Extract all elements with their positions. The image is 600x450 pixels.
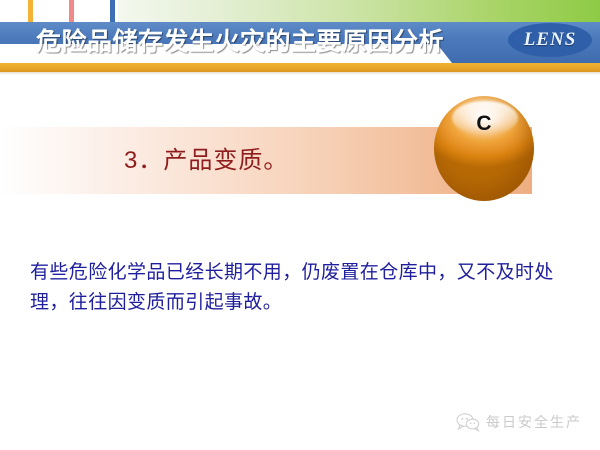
accent-tick-pink <box>69 0 74 22</box>
accent-tick-orange <box>28 0 33 22</box>
watermark-label: 每日安全生产 <box>486 412 582 432</box>
heading-text: 3．产品变质。 <box>124 127 288 194</box>
body-paragraph: 有些危险化学品已经长期不用，仍废置在仓库中，又不及时处理，往往因变质而引起事故。 <box>30 258 575 318</box>
watermark: 每日安全生产 <box>456 409 588 435</box>
gold-divider-shadow <box>0 72 600 75</box>
slide-title: 危险品储存发生火灾的主要原因分析 <box>36 22 444 63</box>
badge-letter: C <box>434 96 534 152</box>
green-gradient-bar <box>118 0 600 22</box>
gold-divider-bar <box>0 63 600 72</box>
wechat-bubbles-icon <box>456 412 480 432</box>
slide-canvas: 危险品储存发生火灾的主要原因分析 LENS 3．产品变质。 C 有些危险化学品已… <box>0 0 600 450</box>
accent-tick-blue <box>110 0 115 22</box>
lens-logo-text: LENS <box>508 23 592 57</box>
top-accent-strip <box>0 0 600 22</box>
